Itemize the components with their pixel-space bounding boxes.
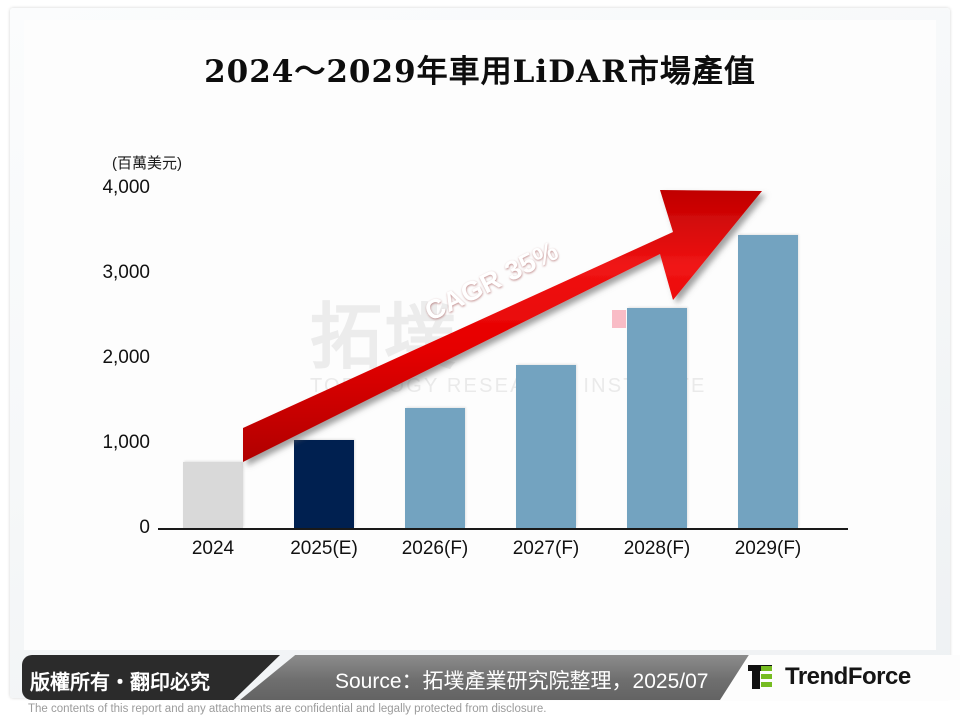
- trendforce-mark-icon: [748, 663, 778, 691]
- y-axis-tick-label: 4,000: [72, 177, 150, 199]
- bar-chart: (百萬美元) 01,0002,0003,0004,000 20242025(E)…: [0, 0, 960, 720]
- y-axis-unit-label: (百萬美元): [112, 152, 182, 173]
- x-axis-tick-label: 2028(F): [597, 538, 717, 560]
- x-axis-line: [158, 528, 848, 530]
- y-axis-tick-label: 3,000: [72, 262, 150, 284]
- source-text: Source：拓墣產業研究院整理，2025/07: [335, 665, 708, 695]
- bar: [294, 440, 354, 528]
- trendforce-wordmark: TrendForce: [785, 663, 911, 691]
- y-axis-tick-label: 1,000: [72, 432, 150, 454]
- y-axis-tick-label: 0: [72, 517, 150, 539]
- bar: [516, 365, 576, 528]
- x-axis-tick-label: 2029(F): [708, 538, 828, 560]
- y-axis-tick-label: 2,000: [72, 347, 150, 369]
- slide-canvas: 2024～2029年車用LiDAR市場產值 拓墣 TOPOLOGY RESEAR…: [0, 0, 960, 720]
- trendforce-logo[interactable]: TrendForce: [748, 663, 911, 691]
- bar: [405, 408, 465, 528]
- bar: [738, 235, 798, 528]
- bar: [183, 462, 243, 528]
- x-axis-tick-label: 2024: [153, 538, 273, 560]
- copyright-text: 版權所有・翻印必究: [30, 666, 210, 695]
- x-axis-tick-label: 2025(E): [264, 538, 384, 560]
- x-axis-tick-label: 2027(F): [486, 538, 606, 560]
- x-axis-tick-label: 2026(F): [375, 538, 495, 560]
- bar: [627, 308, 687, 528]
- footer: 版權所有・翻印必究 Source：拓墣產業研究院整理，2025/07 Trend…: [0, 655, 960, 700]
- disclaimer-text: The contents of this report and any atta…: [28, 703, 546, 715]
